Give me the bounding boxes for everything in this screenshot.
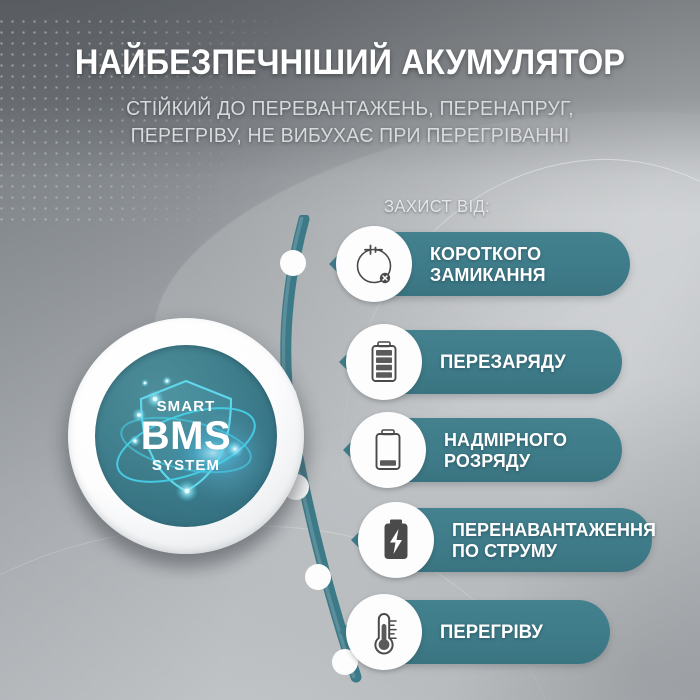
battery-full-icon: [363, 339, 405, 385]
badge-main-text: BMS: [141, 416, 231, 456]
protection-card-overcharge[interactable]: ПЕРЕЗАРЯДУ: [352, 330, 622, 394]
card-icon-wrap: [346, 324, 422, 400]
card-icon-wrap: [346, 594, 422, 670]
badge-top-text: SMART: [157, 399, 216, 414]
badge-teal-disc: SMART BMS SYSTEM: [95, 345, 277, 527]
card-label: ПЕРЕГРІВУ: [440, 622, 543, 643]
short-circuit-icon: [351, 241, 397, 287]
header: НАЙБЕЗПЕЧНІШИЙ АКУМУЛЯТОР СТІЙКИЙ ДО ПЕР…: [0, 0, 700, 149]
thermometer-icon: [364, 609, 404, 655]
subtitle-line-1: СТІЙКИЙ ДО ПЕРЕВАНТАЖЕНЬ, ПЕРЕНАПРУГ,: [18, 96, 683, 123]
battery-low-icon: [367, 427, 409, 473]
badge-bottom-text: SYSTEM: [152, 458, 220, 473]
card-icon-wrap: [350, 412, 426, 488]
protection-card-overheat[interactable]: ПЕРЕГРІВУ: [352, 600, 610, 664]
card-icon-wrap: [358, 502, 434, 578]
badge-text: SMART BMS SYSTEM: [95, 345, 277, 527]
page-subtitle: СТІЙКИЙ ДО ПЕРЕВАНТАЖЕНЬ, ПЕРЕНАПРУГ, ПЕ…: [18, 82, 683, 149]
battery-bolt-icon: [375, 517, 417, 563]
protection-card-overcurrent[interactable]: ПЕРЕНАВАНТАЖЕННЯ ПО СТРУМУ: [364, 508, 652, 572]
card-label: ПЕРЕНАВАНТАЖЕННЯ ПО СТРУМУ: [452, 519, 656, 561]
page-title: НАЙБЕЗПЕЧНІШИЙ АКУМУЛЯТОР: [25, 0, 676, 82]
connector-node-1: [280, 250, 306, 276]
subtitle-line-2: ПЕРЕГРІВУ, НЕ ВИБУХАЄ ПРИ ПЕРЕГРІВАННІ: [18, 123, 683, 150]
bms-badge: SMART BMS SYSTEM: [68, 318, 304, 554]
protects-from-label: ЗАХИСТ ВІД:: [384, 196, 490, 217]
protection-card-over-discharge[interactable]: НАДМІРНОГО РОЗРЯДУ: [356, 418, 622, 482]
protection-card-short-circuit[interactable]: КОРОТКОГО ЗАМИКАННЯ: [342, 232, 630, 296]
card-icon-wrap: [336, 226, 412, 302]
card-label: КОРОТКОГО ЗАМИКАННЯ: [430, 243, 546, 285]
infographic-poster: НАЙБЕЗПЕЧНІШИЙ АКУМУЛЯТОР СТІЙКИЙ ДО ПЕР…: [0, 0, 700, 700]
card-label: ПЕРЕЗАРЯДУ: [440, 352, 566, 373]
connector-node-4: [305, 564, 331, 590]
card-label: НАДМІРНОГО РОЗРЯДУ: [444, 429, 567, 471]
